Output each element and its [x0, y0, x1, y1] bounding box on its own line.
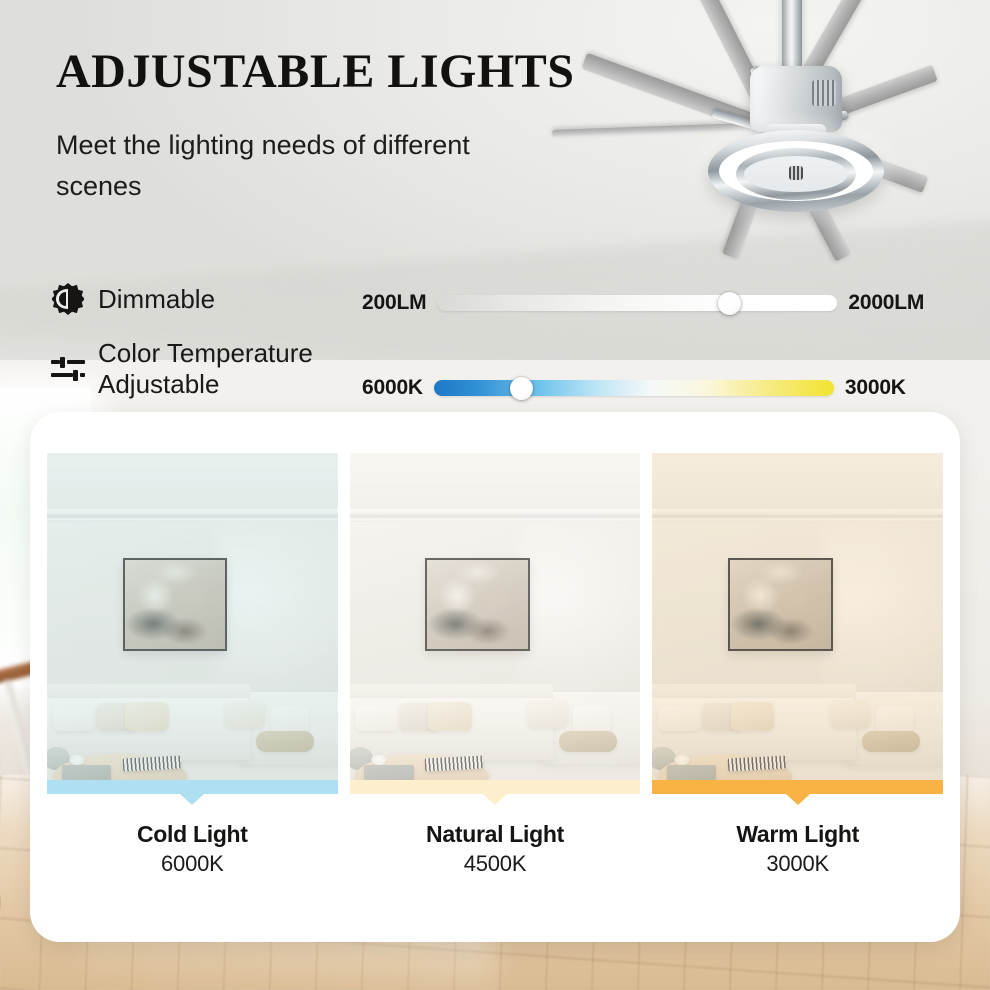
- scene-warm-light: [652, 453, 943, 780]
- fan-center-emblem: [789, 166, 803, 180]
- crown-molding: [350, 509, 641, 523]
- feature-dimmable: Dimmable: [48, 279, 215, 319]
- framed-artwork: [123, 558, 228, 651]
- comparison-card: Cold Light 6000K: [30, 412, 960, 942]
- cct-slider-track[interactable]: [434, 380, 834, 396]
- dimmable-slider[interactable]: 200LM 2000LM: [362, 289, 924, 317]
- feature-dimmable-label: Dimmable: [98, 284, 215, 315]
- ceiling-fan-image: [590, 0, 990, 282]
- cct-slider-thumb[interactable]: [510, 377, 533, 400]
- comparison-panels: Cold Light 6000K: [47, 453, 943, 877]
- natural-light-kelvin: 4500K: [350, 851, 641, 877]
- warm-color-bar: [652, 780, 943, 794]
- dimmable-slider-thumb[interactable]: [718, 292, 741, 315]
- panel-warm-light: Warm Light 3000K: [652, 453, 943, 877]
- framed-artwork: [728, 558, 833, 651]
- framed-artwork: [425, 558, 530, 651]
- panel-cold-light: Cold Light 6000K: [47, 453, 338, 877]
- scene-cold-light: [47, 453, 338, 780]
- feature-color-temperature-label: Color Temperature Adjustable: [98, 338, 313, 400]
- book: [667, 765, 716, 780]
- color-temperature-slider[interactable]: 6000K 3000K: [362, 374, 906, 402]
- natural-light-name: Natural Light: [350, 821, 641, 848]
- caption-warm-light: Warm Light 3000K: [652, 821, 943, 877]
- sliders-icon: [48, 349, 88, 389]
- cold-light-name: Cold Light: [47, 821, 338, 848]
- fan-downrod: [782, 0, 802, 76]
- page-subtitle: Meet the lighting needs of different sce…: [56, 125, 476, 207]
- book: [62, 765, 111, 780]
- dimmable-slider-track[interactable]: [437, 295, 837, 311]
- warm-light-name: Warm Light: [652, 821, 943, 848]
- crown-molding: [47, 509, 338, 523]
- cold-light-kelvin: 6000K: [47, 851, 338, 877]
- dimmable-min-label: 200LM: [362, 291, 426, 315]
- cct-max-label: 3000K: [845, 376, 906, 400]
- warm-light-kelvin: 3000K: [652, 851, 943, 877]
- brightness-icon: [48, 279, 88, 319]
- product-marketing-image: ADJUSTABLE LIGHTS Meet the lighting need…: [0, 0, 990, 990]
- coffee-cup: [69, 755, 85, 765]
- page-title: ADJUSTABLE LIGHTS: [56, 44, 574, 99]
- cct-min-label: 6000K: [362, 376, 423, 400]
- natural-color-bar: [350, 780, 641, 794]
- crown-molding: [652, 509, 943, 523]
- feature-color-temperature: Color Temperature Adjustable: [48, 338, 313, 400]
- fan-vent: [812, 80, 836, 106]
- cold-color-bar: [47, 780, 338, 794]
- scene-natural-light: [350, 453, 641, 780]
- book: [364, 765, 413, 780]
- caption-natural-light: Natural Light 4500K: [350, 821, 641, 877]
- panel-natural-light: Natural Light 4500K: [350, 453, 641, 877]
- caption-cold-light: Cold Light 6000K: [47, 821, 338, 877]
- dimmable-max-label: 2000LM: [848, 291, 924, 315]
